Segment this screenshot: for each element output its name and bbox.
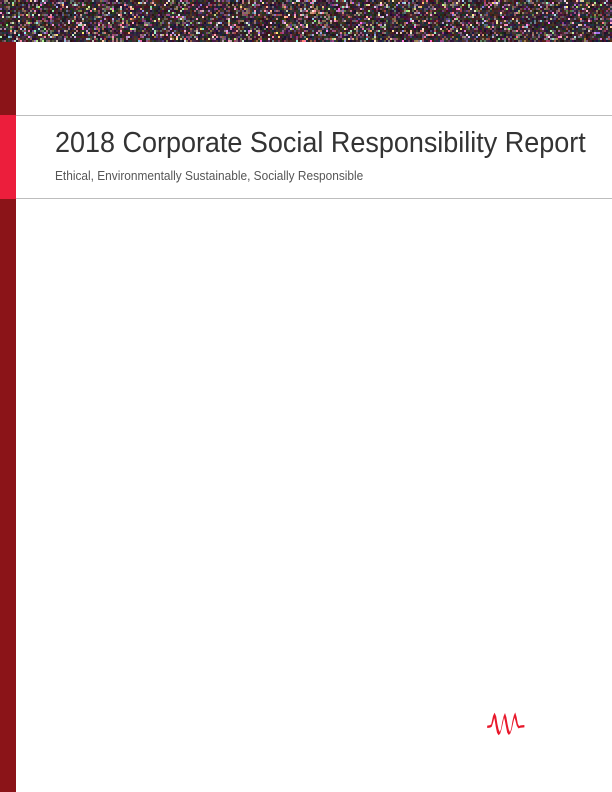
document-cover-page: 2018 Corporate Social Responsibility Rep…: [0, 0, 612, 792]
page-title: 2018 Corporate Social Responsibility Rep…: [55, 124, 557, 162]
waveform-logo-icon: [486, 710, 526, 736]
title-band-rule-top: [16, 115, 612, 116]
title-block: 2018 Corporate Social Responsibility Rep…: [55, 124, 595, 184]
title-band-rule-bottom: [16, 198, 612, 199]
left-accent-bar-highlight: [0, 115, 16, 199]
page-subtitle: Ethical, Environmentally Sustainable, So…: [55, 168, 568, 184]
top-photo-strip: [0, 0, 612, 42]
